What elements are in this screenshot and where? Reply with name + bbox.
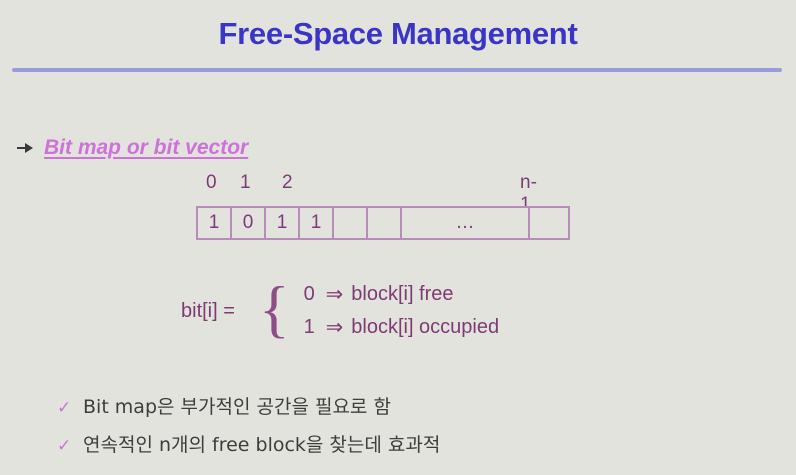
bullet-item-label: Bit map or bit vector	[44, 136, 248, 160]
note-text: Bit map은 부가적인 공간을 필요로 함	[83, 392, 391, 419]
equation-case-result: block[i] occupied	[351, 316, 499, 339]
list-item: ✓ 연속적인 n개의 free block을 찾는데 효과적	[57, 430, 440, 457]
check-icon: ✓	[57, 436, 83, 456]
implies-icon: ⇒	[326, 282, 344, 307]
title-divider	[12, 68, 782, 72]
bit-cell	[530, 208, 568, 238]
list-item: ✓ Bit map은 부가적인 공간을 필요로 함	[57, 392, 440, 419]
equation-cases: 0 ⇒ block[i] free 1 ⇒ block[i] occupied	[304, 278, 499, 344]
curly-brace-icon: {	[259, 283, 290, 335]
bit-index-label-1: 1	[240, 172, 251, 194]
equation-case-bit: 0	[304, 283, 318, 306]
note-text: 연속적인 n개의 free block을 찾는데 효과적	[83, 430, 440, 457]
equation-case-result: block[i] free	[351, 283, 453, 306]
check-icon: ✓	[57, 398, 83, 418]
notes-list: ✓ Bit map은 부가적인 공간을 필요로 함 ✓ 연속적인 n개의 fre…	[57, 392, 440, 468]
bit-cell: 0	[232, 208, 266, 238]
equation-case-free: 0 ⇒ block[i] free	[304, 278, 499, 311]
bit-cell	[368, 208, 402, 238]
page-title: Free-Space Management	[0, 16, 796, 52]
bit-definition-equation: bit[i] = { 0 ⇒ block[i] free 1 ⇒ block[i…	[181, 278, 499, 344]
equation-case-bit: 1	[304, 316, 318, 339]
bit-cell	[334, 208, 368, 238]
bit-index-label-2: 2	[282, 172, 293, 194]
bit-cell-ellipsis: …	[402, 208, 530, 238]
equation-lhs: bit[i] =	[181, 300, 235, 323]
bit-cell: 1	[198, 208, 232, 238]
bit-cell: 1	[266, 208, 300, 238]
bit-vector-table: 1 0 1 1 …	[196, 206, 570, 240]
equation-case-occupied: 1 ⇒ block[i] occupied	[304, 311, 499, 344]
arrow-bullet-icon	[16, 140, 34, 156]
bullet-item-bit-map: Bit map or bit vector	[16, 136, 248, 160]
implies-icon: ⇒	[326, 315, 344, 340]
bit-cell: 1	[300, 208, 334, 238]
bit-index-label-0: 0	[206, 172, 217, 194]
